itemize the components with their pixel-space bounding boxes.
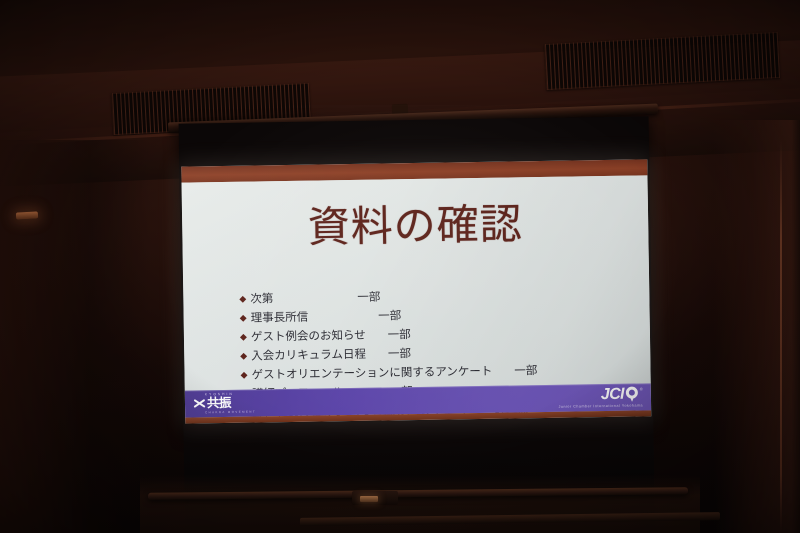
list-item-quantity: 一部 — [514, 363, 537, 378]
slide-content-area: 資料の確認 ◆ 次第 一部 ◆ 理事長所信 一部 ◆ ゲスト例会のお知ら — [182, 175, 651, 390]
list-item-quantity: 一部 — [388, 327, 411, 342]
list-item-label: 理事長所信 — [251, 310, 309, 326]
diamond-bullet-icon: ◆ — [239, 293, 250, 308]
projection-screen: 資料の確認 ◆ 次第 一部 ◆ 理事長所信 一部 ◆ ゲスト例会のお知ら — [179, 116, 654, 433]
kyoshin-logo: KYOSHIN 共振 CHAKRA MOVEMENT — [193, 392, 256, 414]
foreground-podium — [140, 475, 700, 533]
kyoshin-logo-kanji: 共振 — [207, 397, 231, 410]
wall-lamp-glow — [16, 211, 38, 219]
kyoshin-x-mark-icon — [193, 397, 206, 410]
jci-wordmark: JCI — [601, 386, 624, 402]
jci-registered-mark: ® — [640, 387, 643, 391]
diamond-bullet-icon: ◆ — [240, 331, 251, 346]
jci-subtitle: Junior Chamber International Yokohama — [559, 404, 644, 409]
kyoshin-logo-bottom-text: CHAKRA MOVEMENT — [205, 411, 256, 415]
right-wall-pillar — [714, 120, 800, 533]
diamond-bullet-icon: ◆ — [240, 350, 251, 365]
diamond-bullet-icon: ◆ — [240, 369, 251, 384]
jci-pin-icon — [626, 387, 638, 402]
list-item-quantity: 一部 — [357, 290, 380, 305]
jci-logo-mark: JCI ® — [601, 386, 643, 403]
list-item-quantity: 一部 — [388, 346, 411, 361]
list-item-label: 次第 — [250, 291, 273, 306]
kyoshin-logo-mark: 共振 — [193, 397, 231, 411]
list-item-quantity: 一部 — [378, 308, 401, 323]
slide-title: 資料の確認 — [182, 201, 649, 250]
list-item-label: ゲストオリエンテーションに関するアンケート — [251, 364, 492, 383]
left-wall-shadow — [0, 140, 150, 533]
foreground-equipment-indicator-light — [360, 496, 378, 502]
list-item-label: 入会カリキュラム日程 — [251, 347, 366, 364]
diamond-bullet-icon: ◆ — [240, 312, 251, 327]
presentation-slide: 資料の確認 ◆ 次第 一部 ◆ 理事長所信 一部 ◆ ゲスト例会のお知ら — [181, 159, 651, 423]
right-pillar-highlight-edge — [780, 140, 782, 533]
list-item-label: ゲスト例会のお知らせ — [251, 328, 366, 345]
jci-logo: JCI ® Junior Chamber International Yokoh… — [558, 386, 643, 409]
conference-room-scene: 資料の確認 ◆ 次第 一部 ◆ 理事長所信 一部 ◆ ゲスト例会のお知ら — [0, 0, 800, 533]
